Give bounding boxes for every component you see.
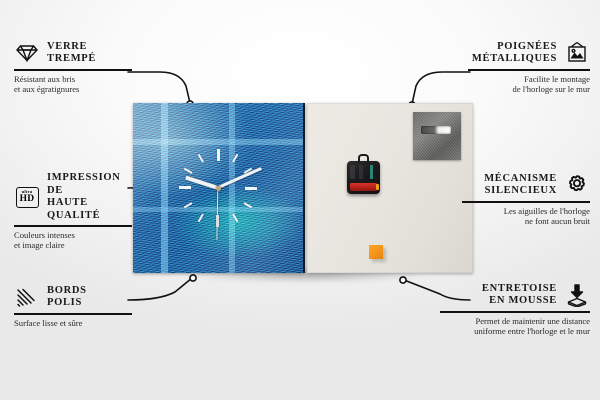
callout-title-line2: EN MOUSSE: [489, 295, 557, 306]
clock-front-panel: [133, 103, 305, 273]
callout-title-line2: TREMPÉ: [47, 53, 96, 64]
product-image: [133, 103, 473, 275]
callout-title-line1: IMPRESSION DE: [47, 172, 121, 196]
clock-back-panel: [307, 103, 473, 273]
callout-bords-polis[interactable]: BORDSPOLIS Surface lisse et sûre: [14, 284, 132, 328]
callout-verre-trempe[interactable]: VERRETREMPÉ Résistant aux briset aux égr…: [14, 40, 132, 95]
ultra-hd-big-label: HD: [20, 195, 35, 205]
callout-entretoise-en-mousse[interactable]: ENTRETOISEEN MOUSSE Permet de maintenir …: [440, 282, 590, 337]
callout-title-line1: ENTRETOISE: [482, 283, 557, 294]
callout-sub-line1: Permet de maintenir une distance: [475, 316, 590, 326]
clock-mechanism: [347, 161, 380, 194]
callout-title-line1: MÉCANISME: [484, 173, 557, 184]
callout-sub-line1: Couleurs intenses: [14, 230, 75, 240]
callout-title-line1: VERRE: [47, 41, 87, 52]
diamond-icon: [14, 40, 40, 66]
callout-sub-line2: ne font aucun bruit: [525, 216, 590, 226]
battery: [350, 183, 377, 191]
foam-spacer-pad: [369, 245, 383, 259]
callout-poignees-metalliques[interactable]: POIGNÉESMÉTALLIQUES Facilite le montaged…: [468, 40, 590, 95]
polished-edges-icon: [14, 284, 40, 310]
callout-sub-line2: uniforme entre l'horloge et le mur: [474, 326, 590, 336]
foam-spacer-icon: [564, 282, 590, 308]
callout-rule: [468, 69, 590, 71]
clock-dial: [133, 103, 303, 273]
callout-sub-line1: Les aiguilles de l'horloge: [504, 206, 590, 216]
callout-sub-line1: Surface lisse et sûre: [14, 318, 83, 328]
callout-sub-line1: Résistant aux bris: [14, 74, 75, 84]
callout-rule: [462, 201, 590, 203]
ultra-hd-icon: ultra HD: [14, 184, 40, 210]
callout-rule: [14, 69, 132, 71]
callout-sub-line2: de l'horloge sur le mur: [513, 84, 590, 94]
callout-sub-line2: et image claire: [14, 240, 65, 250]
callout-sub-line1: Facilite le montage: [524, 74, 590, 84]
callout-impression-haute-qualite[interactable]: ultra HD IMPRESSION DEHAUTE QUALITÉ Coul…: [14, 172, 132, 251]
callout-mecanisme-silencieux[interactable]: MÉCANISMESILENCIEUX Les aiguilles de l'h…: [462, 172, 590, 227]
picture-hanger-icon: [564, 40, 590, 66]
callout-title-line2: SILENCIEUX: [485, 185, 557, 196]
metal-hanger-plate: [413, 112, 461, 160]
callout-rule: [14, 225, 132, 227]
mechanism-hanging-loop: [358, 154, 369, 163]
gear-icon: [564, 172, 590, 198]
mechanism-detail: [350, 165, 377, 179]
callout-title-line1: POIGNÉES: [497, 41, 557, 52]
callout-title-line2: MÉTALLIQUES: [472, 53, 557, 64]
callout-title-line2: HAUTE QUALITÉ: [47, 197, 100, 221]
product-shadow: [137, 271, 473, 287]
callout-rule: [440, 311, 590, 313]
callout-sub-line2: et aux égratignures: [14, 84, 79, 94]
callout-title-line1: BORDS: [47, 285, 87, 296]
callout-title-line2: POLIS: [47, 297, 82, 308]
clock-center-cap: [216, 186, 221, 191]
callout-rule: [14, 313, 132, 315]
keyhole-slot: [421, 126, 451, 134]
infographic-stage: VERRETREMPÉ Résistant aux briset aux égr…: [0, 0, 600, 400]
